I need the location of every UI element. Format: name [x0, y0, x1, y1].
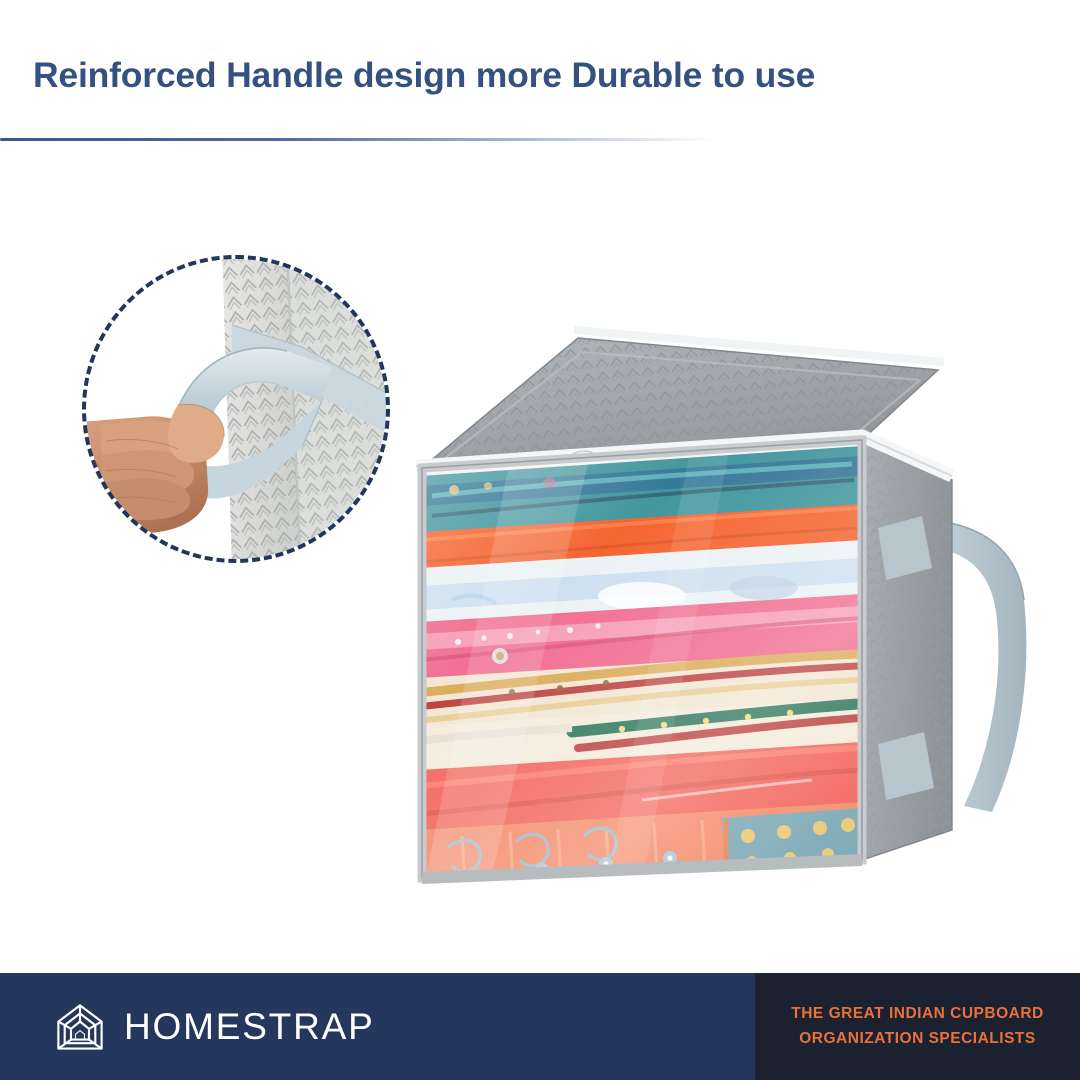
footer-bar: HOMESTRAP THE GREAT INDIAN CUPBOARD ORGA…: [0, 973, 1080, 1080]
callout-dashed-ring: [82, 255, 390, 563]
header-divider: [0, 138, 718, 141]
page-title: Reinforced Handle design more Durable to…: [33, 55, 1013, 96]
product-image: [392, 300, 1052, 950]
tagline-line-2: ORGANIZATION SPECIALISTS: [799, 1030, 1035, 1048]
bag-window: [412, 420, 882, 900]
brand-wordmark: HOMESTRAP: [124, 1006, 375, 1048]
footer-tagline-panel: THE GREAT INDIAN CUPBOARD ORGANIZATION S…: [755, 973, 1080, 1080]
house-logo-icon: [53, 1000, 107, 1054]
reinforced-handle-callout: [82, 255, 390, 563]
bag-side-panel: [862, 440, 952, 860]
footer-brand-panel: HOMESTRAP: [0, 973, 755, 1080]
tagline-line-1: THE GREAT INDIAN CUPBOARD: [791, 1005, 1043, 1023]
